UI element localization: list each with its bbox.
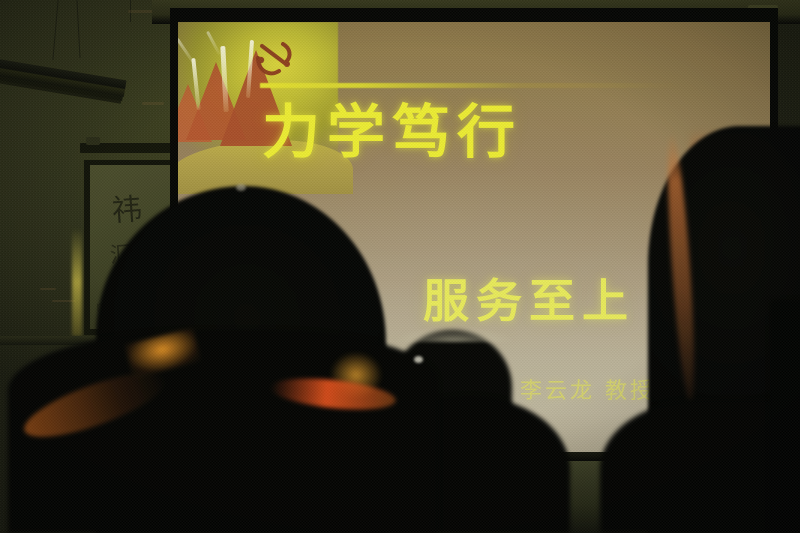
specular-highlight [236, 184, 246, 191]
audience-body-far-right [770, 300, 800, 533]
whiteboard-clip [86, 137, 100, 145]
whiteboard-edge-glow [72, 228, 82, 336]
wall-scuff [128, 10, 154, 13]
wall-scuff [142, 102, 164, 105]
specular-highlight [414, 356, 423, 363]
wall-scuff [40, 288, 56, 290]
audience-head-center-rim-light [392, 326, 516, 342]
whiteboard-ink-mark: 祎 [111, 195, 143, 227]
lecture-hall-photo: 祎 汇 m [0, 0, 800, 533]
